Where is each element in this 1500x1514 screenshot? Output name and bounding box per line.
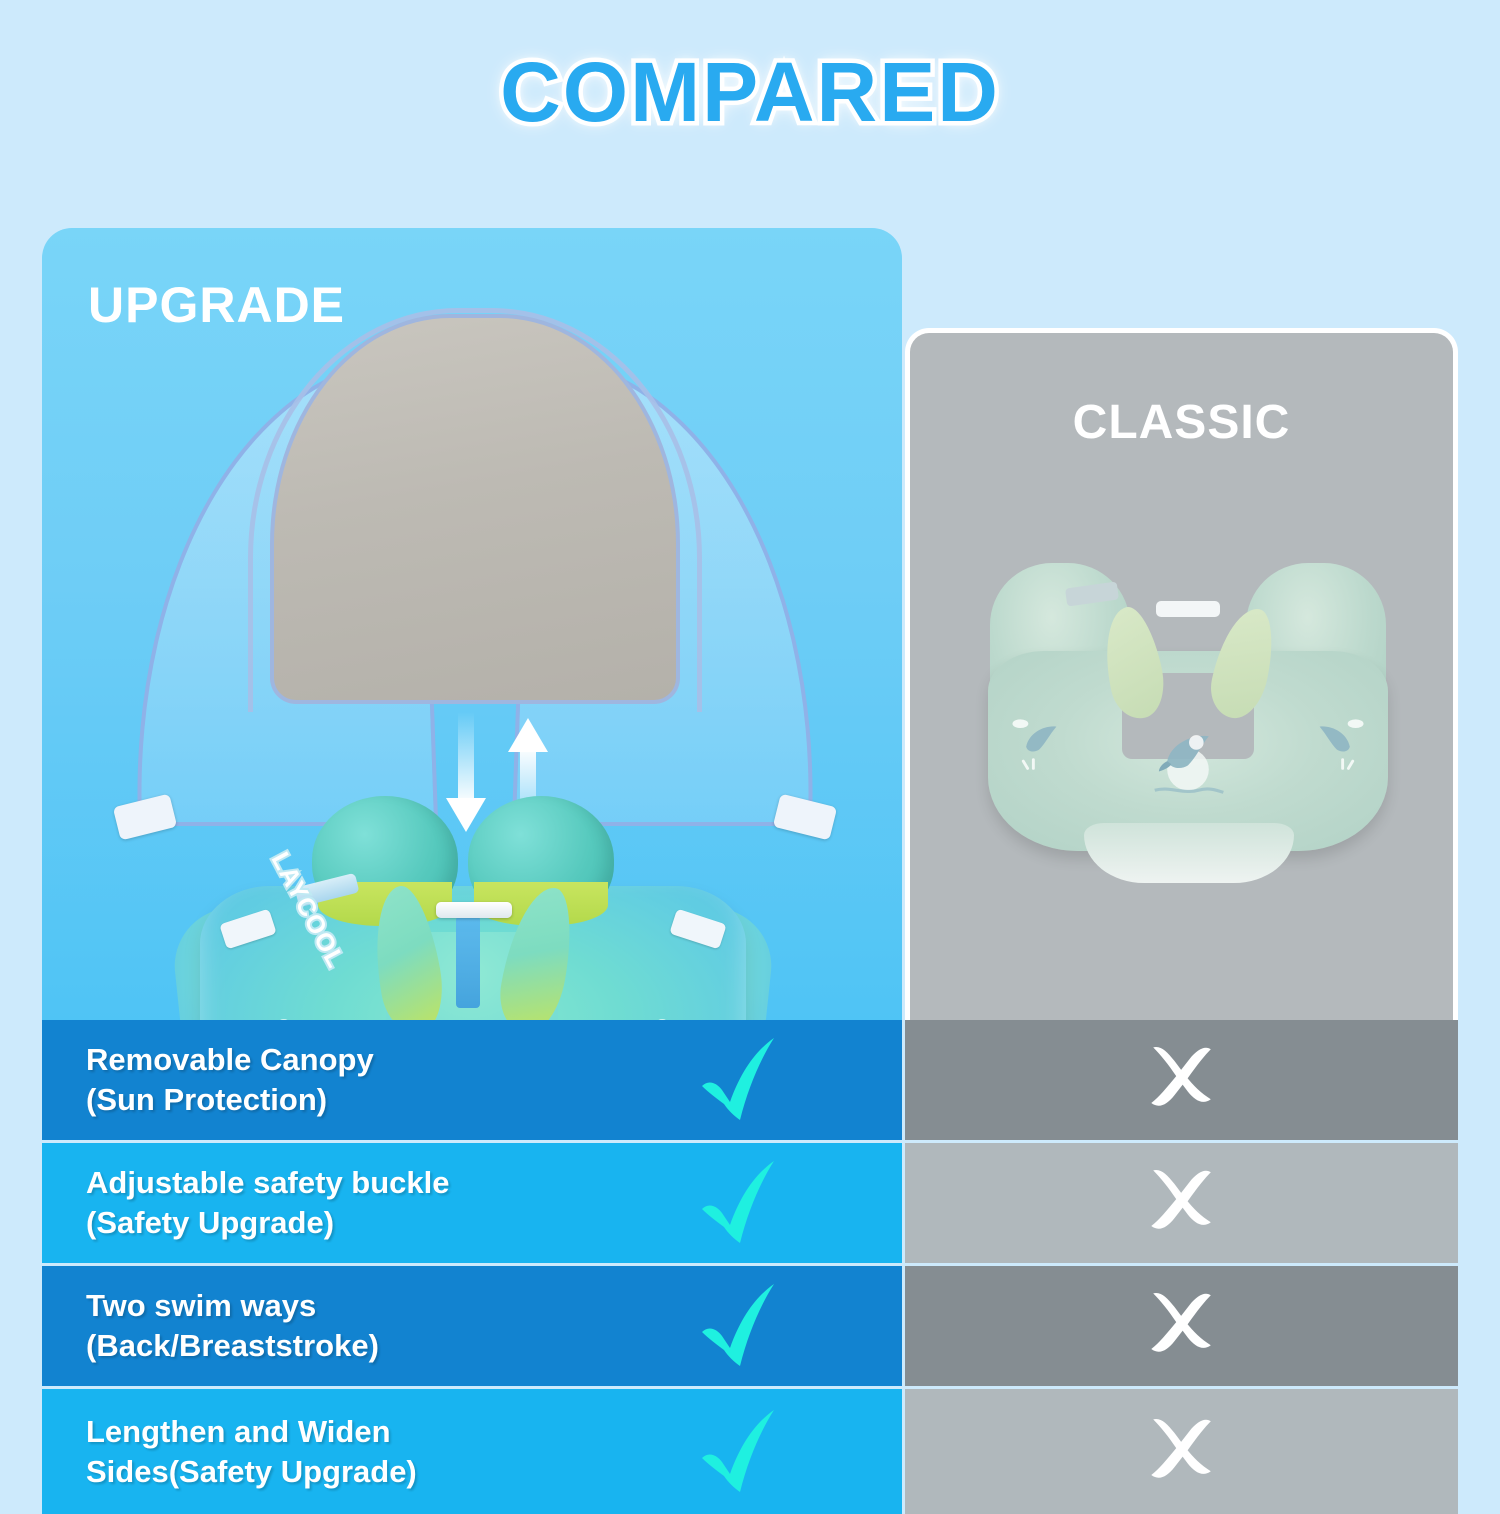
- check-icon: [690, 1153, 790, 1253]
- safety-strap: [456, 916, 480, 1008]
- feature-cell-classic: [905, 1266, 1458, 1386]
- feature-label-line2: (Safety Upgrade): [86, 1203, 646, 1243]
- cross-icon: [1134, 1278, 1230, 1374]
- feature-label: Adjustable safety buckle (Safety Upgrade…: [86, 1163, 646, 1242]
- feature-cell-classic: [905, 1143, 1458, 1263]
- classic-product-panel: CLASSIC: [905, 328, 1458, 1020]
- table-row: Removable Canopy (Sun Protection): [42, 1020, 1458, 1140]
- comparison-table: Removable Canopy (Sun Protection) Adjust…: [42, 1020, 1458, 1500]
- cross-icon: [1134, 1155, 1230, 1251]
- check-icon: [690, 1030, 790, 1130]
- feature-label: Lengthen and Widen Sides(Safety Upgrade): [86, 1412, 646, 1491]
- page-title: COMPARED: [500, 44, 1000, 141]
- feature-cell-upgrade: Removable Canopy (Sun Protection): [42, 1020, 902, 1140]
- upgrade-label: UPGRADE: [88, 276, 345, 334]
- table-row: Lengthen and Widen Sides(Safety Upgrade): [42, 1389, 1458, 1514]
- safety-buckle: [436, 902, 512, 918]
- feature-label-line2: (Back/Breaststroke): [86, 1326, 646, 1366]
- classic-product-image: [988, 555, 1388, 905]
- cross-icon: [1134, 1032, 1230, 1128]
- feature-label-line1: Adjustable safety buckle: [86, 1163, 646, 1203]
- feature-label-line2: Sides(Safety Upgrade): [86, 1452, 646, 1492]
- classic-dolphin-motif-center: [1136, 705, 1240, 809]
- feature-cell-upgrade: Two swim ways (Back/Breaststroke): [42, 1266, 902, 1386]
- feature-label-line1: Lengthen and Widen: [86, 1412, 646, 1452]
- title-bar: COMPARED: [0, 44, 1500, 141]
- feature-cell-upgrade: Adjustable safety buckle (Safety Upgrade…: [42, 1143, 902, 1263]
- table-row: Adjustable safety buckle (Safety Upgrade…: [42, 1143, 1458, 1263]
- dolphin-motif-left: [239, 1009, 307, 1020]
- feature-cell-classic: [905, 1020, 1458, 1140]
- feature-label-line2: (Sun Protection): [86, 1080, 646, 1120]
- check-icon: [690, 1276, 790, 1376]
- classic-dolphin-motif-left: [1006, 705, 1078, 777]
- dolphin-motif-right: [639, 1009, 707, 1020]
- cross-icon: [1134, 1404, 1230, 1500]
- classic-dolphin-motif-right: [1298, 705, 1370, 777]
- classic-buckle: [1156, 601, 1220, 617]
- table-row: Two swim ways (Back/Breaststroke): [42, 1266, 1458, 1386]
- feature-cell-classic: [905, 1389, 1458, 1514]
- dolphin-motif-center: [426, 998, 538, 1020]
- feature-cell-upgrade: Lengthen and Widen Sides(Safety Upgrade): [42, 1389, 902, 1514]
- classic-lower-chamber: [1084, 823, 1294, 883]
- canopy-foot-right: [773, 793, 838, 840]
- feature-label: Two swim ways (Back/Breaststroke): [86, 1286, 646, 1365]
- canopy-foot-left: [113, 793, 178, 840]
- feature-label-line1: Two swim ways: [86, 1286, 646, 1326]
- upgrade-product-image: LAYCOOL: [42, 228, 902, 1020]
- check-icon: [690, 1402, 790, 1502]
- feature-label: Removable Canopy (Sun Protection): [86, 1040, 646, 1119]
- classic-label: CLASSIC: [910, 395, 1453, 450]
- upgrade-float-body: LAYCOOL: [200, 768, 746, 1020]
- canopy-fabric: [270, 314, 680, 704]
- feature-label-line1: Removable Canopy: [86, 1040, 646, 1080]
- upgrade-product-panel: LAYCOOL: [42, 228, 902, 1020]
